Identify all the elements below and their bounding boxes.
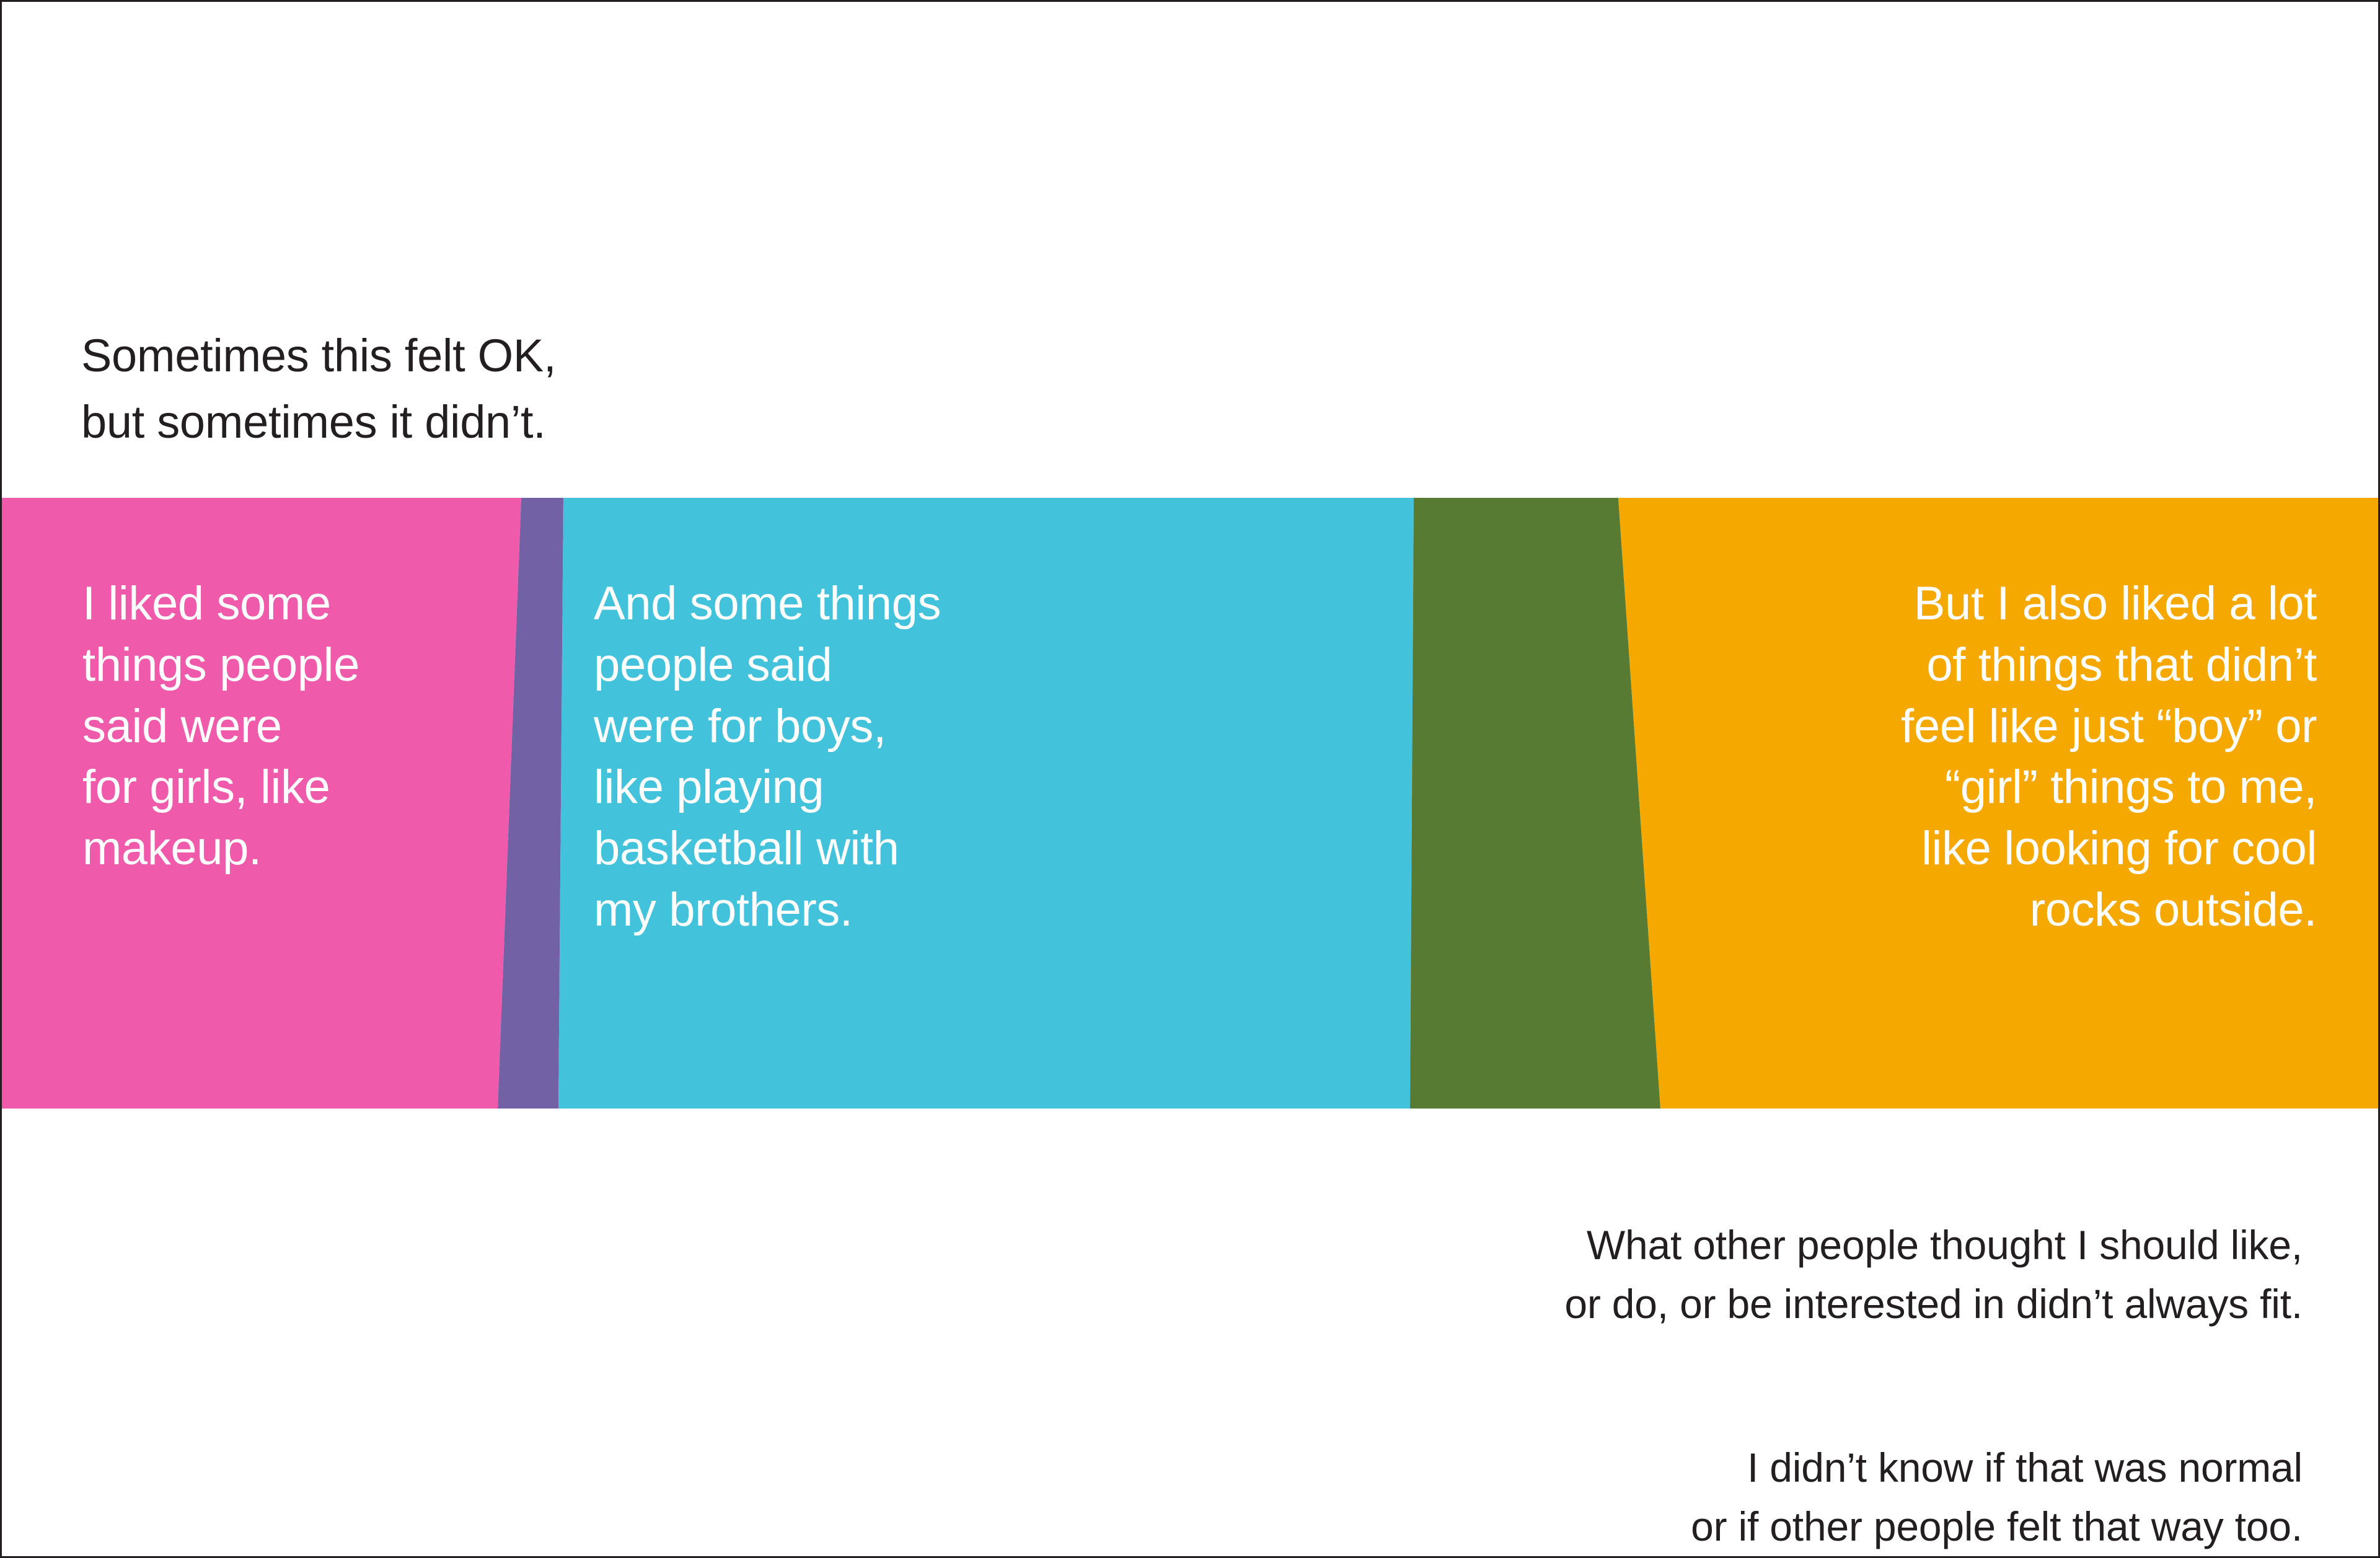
outro-caption: What other people thought I should like,… xyxy=(1063,1156,2303,1557)
pink-panel-text: I liked some things people said were for… xyxy=(82,573,510,880)
outro-paragraph-2: I didn’t know if that was normal or if o… xyxy=(1691,1445,2303,1550)
green-panel-shape xyxy=(1410,498,1660,1109)
intro-caption: Sometimes this felt OK, but sometimes it… xyxy=(81,323,556,455)
outro-paragraph-spacer xyxy=(1063,1334,2303,1379)
comic-page: Sometimes this felt OK, but sometimes it… xyxy=(0,0,2380,1558)
orange-panel-text: But I also liked a lot of things that di… xyxy=(1669,573,2317,941)
cyan-panel-text: And some things people said were for boy… xyxy=(594,573,1108,941)
outro-paragraph-1: What other people thought I should like,… xyxy=(1564,1222,2303,1327)
color-band: I liked some things people said were for… xyxy=(2,498,2380,1109)
